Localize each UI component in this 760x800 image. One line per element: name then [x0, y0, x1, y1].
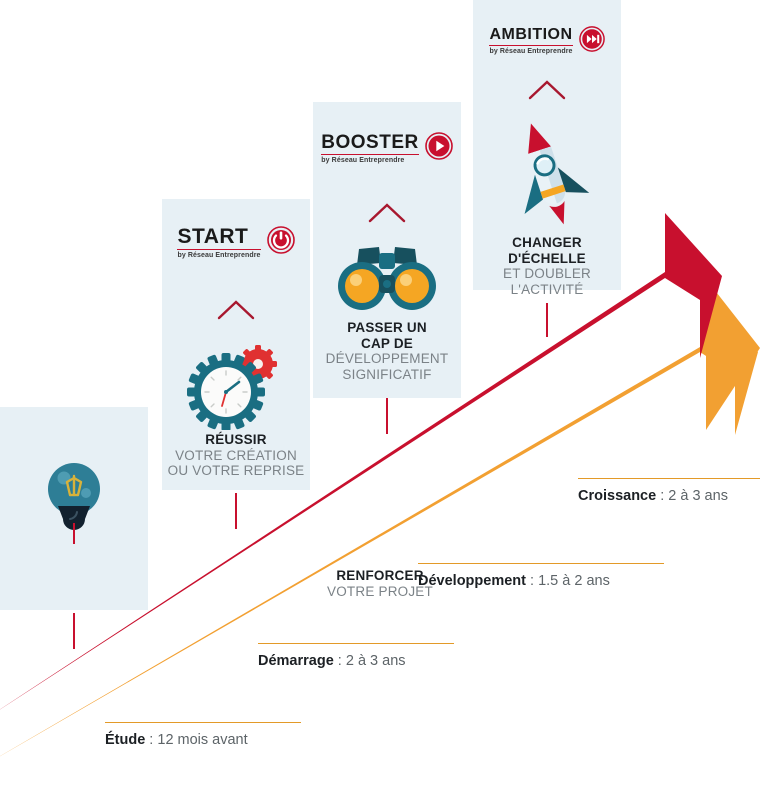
timeline-label: Développement	[418, 573, 526, 589]
logo-ambition: AMBITION by Réseau Entreprendre	[473, 21, 621, 61]
caption-title-2: CAP DE	[313, 336, 461, 352]
logo-word: BOOSTER	[321, 133, 418, 152]
infographic-canvas: RENFORCER VOTRE PROJET START by Réseau E…	[0, 0, 760, 800]
caption-subtitle-1: ET DOUBLER	[473, 266, 621, 282]
logo-rule	[321, 154, 418, 155]
timeline-value: 1.5 à 2 ans	[538, 573, 610, 589]
caption-title-2: D'ÉCHELLE	[473, 251, 621, 267]
logo-word: START	[177, 226, 248, 247]
lightbulb-icon	[0, 455, 148, 545]
caption-subtitle-1: DÉVELOPPEMENT	[313, 351, 461, 367]
caption-subtitle-2: SIGNIFICATIF	[313, 367, 461, 383]
timeline-label-developpement: Développement : 1.5 à 2 ans	[418, 563, 664, 589]
logo-subtitle: by Réseau Entreprendre	[177, 252, 260, 259]
timeline-separator: :	[656, 488, 668, 504]
timeline-label: Démarrage	[258, 653, 334, 669]
timeline-label-croissance: Croissance : 2 à 3 ans	[578, 478, 760, 504]
logo-booster: BOOSTER by Réseau Entreprendre	[313, 128, 461, 168]
caption-start: RÉUSSIR VOTRE CRÉATION OU VOTRE REPRISE	[162, 432, 310, 479]
chevron-up-icon-ambition	[473, 76, 621, 102]
timeline-value: 2 à 3 ans	[668, 488, 728, 504]
timeline-text: Démarrage : 2 à 3 ans	[258, 644, 454, 669]
timeline-label: Étude	[105, 732, 145, 748]
timeline-text: Développement : 1.5 à 2 ans	[418, 564, 664, 589]
logo-rule	[489, 45, 572, 46]
play-button-icon	[425, 132, 453, 165]
caption-title-1: PASSER UN	[313, 320, 461, 336]
gear-clock-icon	[162, 338, 310, 430]
caption-subtitle-1: VOTRE CRÉATION	[162, 448, 310, 464]
timeline-text: Étude : 12 mois avant	[105, 723, 301, 748]
caption-subtitle-2: OU VOTRE REPRISE	[162, 463, 310, 479]
caption-ambition: CHANGER D'ÉCHELLE ET DOUBLER L'ACTIVITÉ	[473, 235, 621, 298]
logo-rule	[177, 249, 260, 250]
logo-word: AMBITION	[489, 27, 572, 43]
binoculars-icon	[313, 240, 461, 316]
power-button-icon	[267, 226, 295, 259]
timeline-separator: :	[334, 653, 346, 669]
timeline-label-etude: Étude : 12 mois avant	[105, 722, 301, 748]
rocket-icon	[473, 118, 621, 228]
timeline-separator: :	[145, 732, 157, 748]
caption-booster: PASSER UN CAP DE DÉVELOPPEMENT SIGNIFICA…	[313, 320, 461, 383]
logo-subtitle: by Réseau Entreprendre	[321, 157, 404, 164]
timeline-label: Croissance	[578, 488, 656, 504]
connector-stem-renforcer	[73, 613, 75, 649]
fast-forward-icon	[579, 26, 605, 57]
caption-title: RÉUSSIR	[162, 432, 310, 448]
chevron-up-icon-booster	[313, 199, 461, 225]
logo-subtitle: by Réseau Entreprendre	[489, 48, 572, 55]
caption-subtitle-2: L'ACTIVITÉ	[473, 282, 621, 298]
chevron-up-icon-start	[162, 296, 310, 322]
connector-stem-start	[235, 493, 237, 529]
connector-stem-booster	[386, 398, 388, 434]
timeline-separator: :	[526, 573, 538, 589]
timeline-text: Croissance : 2 à 3 ans	[578, 479, 760, 504]
timeline-label-demarrage: Démarrage : 2 à 3 ans	[258, 643, 454, 669]
connector-stem-ambition	[546, 303, 548, 337]
logo-start: START by Réseau Entreprendre	[162, 222, 310, 262]
caption-title-1: CHANGER	[473, 235, 621, 251]
timeline-value: 12 mois avant	[157, 732, 247, 748]
timeline-value: 2 à 3 ans	[346, 653, 406, 669]
